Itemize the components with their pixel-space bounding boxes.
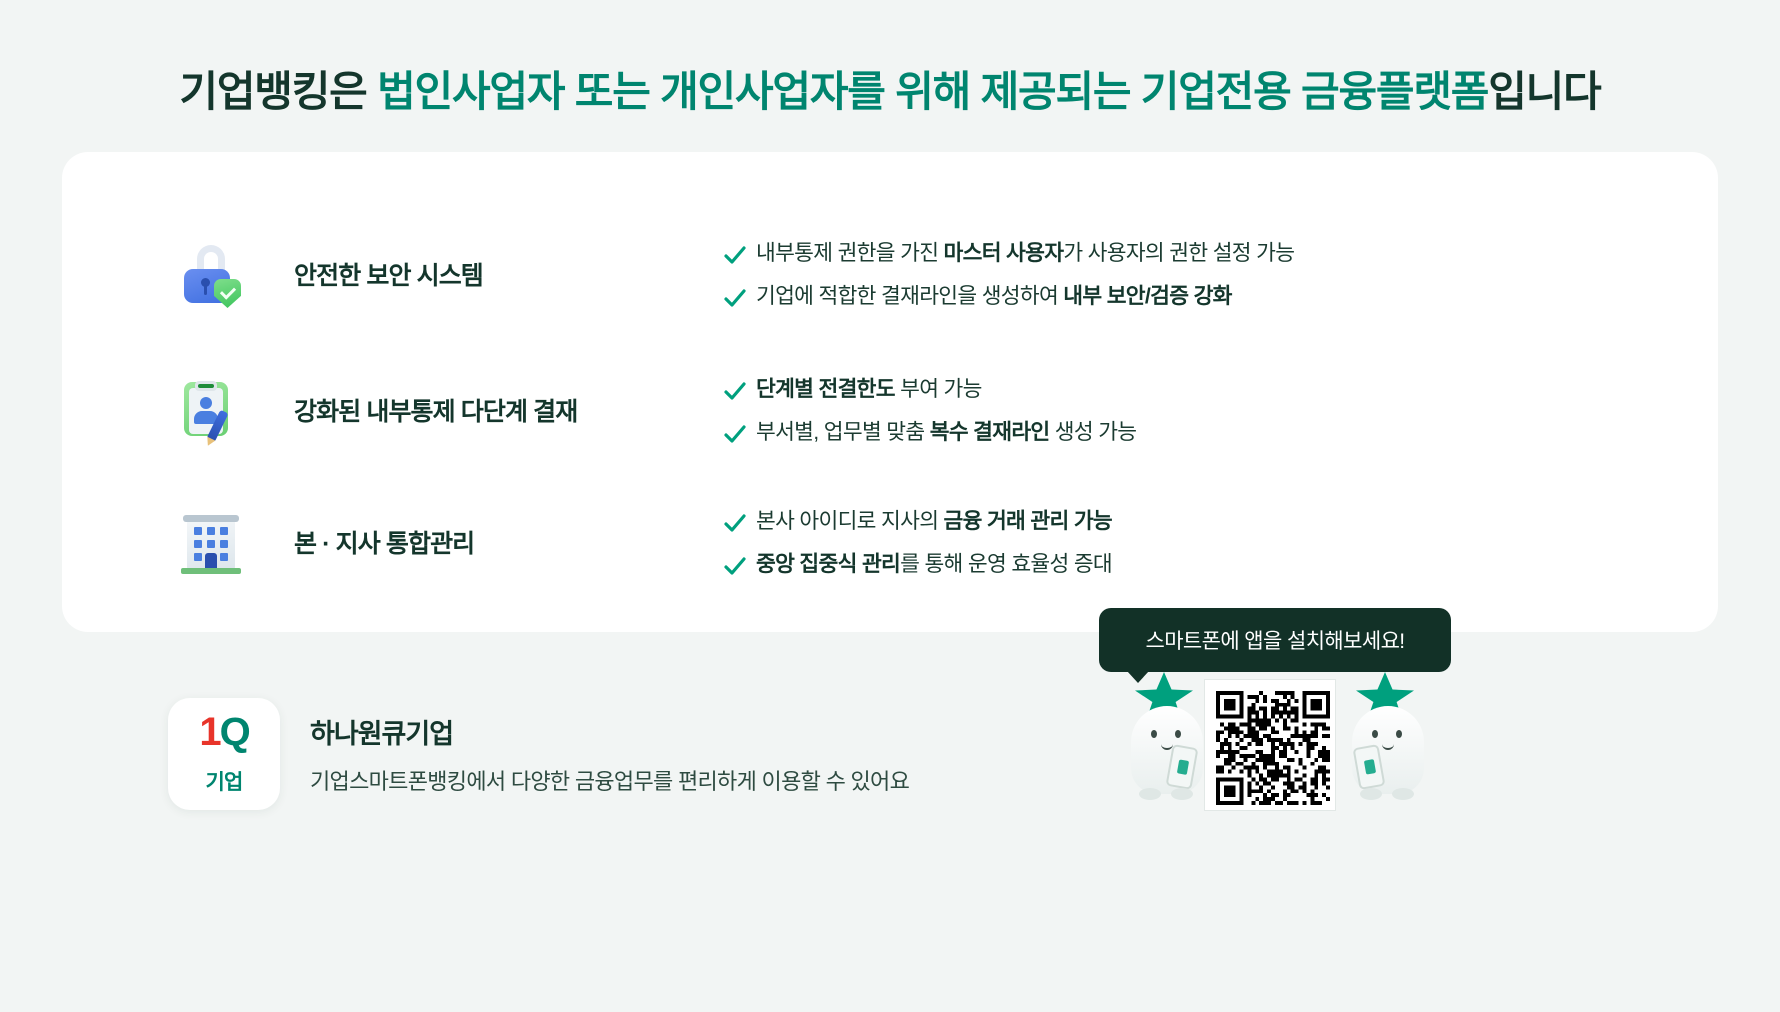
app-download-qr-code[interactable] xyxy=(1205,680,1335,810)
page-title: 기업뱅킹은 법인사업자 또는 개인사업자를 위해 제공되는 기업전용 금융플랫폼… xyxy=(0,58,1780,119)
list-item: 본사 아이디로 지사의 금융 거래 관리 가능 xyxy=(722,508,1718,535)
list-item-text: 중앙 집중식 관리를 통해 운영 효율성 증대 xyxy=(756,551,1112,578)
office-building-icon xyxy=(180,511,242,573)
list-item-text: 내부통제 권한을 가진 마스터 사용자가 사용자의 권한 설정 가능 xyxy=(756,240,1294,267)
check-icon xyxy=(722,285,756,311)
app-title: 하나원큐기업 xyxy=(310,712,453,751)
app-logo-letter: Q xyxy=(220,710,249,754)
list-item-text: 부서별, 업무별 맞춤 복수 결재라인 생성 가능 xyxy=(756,419,1136,446)
feature-heading-group: 본 · 지사 통합관리 xyxy=(62,511,722,573)
install-app-tooltip: 스마트폰에 앱을 설치해보세요! xyxy=(1099,608,1451,672)
qr-canvas xyxy=(1216,691,1330,805)
list-item: 단계별 전결한도 부여 가능 xyxy=(722,376,1718,403)
feature-label: 강화된 내부통제 다단계 결재 xyxy=(294,392,577,428)
feature-bullet-list: 단계별 전결한도 부여 가능 부서별, 업무별 맞춤 복수 결재라인 생성 가능 xyxy=(722,374,1718,446)
feature-label: 본 · 지사 통합관리 xyxy=(294,524,474,560)
feature-bullet-list: 본사 아이디로 지사의 금융 거래 관리 가능 중앙 집중식 관리를 통해 운영… xyxy=(722,506,1718,578)
page-title-lead: 기업뱅킹은 xyxy=(179,68,366,115)
feature-label: 안전한 보안 시스템 xyxy=(294,256,483,292)
unlocked-padlock-shield-icon xyxy=(180,243,242,305)
feature-card: 안전한 보안 시스템 내부통제 권한을 가진 마스터 사용자가 사용자의 권한 … xyxy=(62,152,1718,632)
list-item-text: 기업에 적합한 결재라인을 생성하여 내부 보안/검증 강화 xyxy=(756,283,1232,310)
app-logo-number: 1 xyxy=(199,710,219,754)
install-app-tooltip-text: 스마트폰에 앱을 설치해보세요! xyxy=(1145,625,1404,655)
list-item: 내부통제 권한을 가진 마스터 사용자가 사용자의 권한 설정 가능 xyxy=(722,240,1718,267)
feature-heading-group: 강화된 내부통제 다단계 결재 xyxy=(62,379,722,441)
check-icon xyxy=(722,510,756,536)
check-icon xyxy=(722,378,756,404)
app-logo-mark: 1Q xyxy=(168,712,280,752)
clipboard-approval-icon xyxy=(180,379,242,441)
mascot-star-character-left xyxy=(1119,672,1215,802)
check-icon xyxy=(722,421,756,447)
list-item: 기업에 적합한 결재라인을 생성하여 내부 보안/검증 강화 xyxy=(722,283,1718,310)
feature-row: 본 · 지사 통합관리 본사 아이디로 지사의 금융 거래 관리 가능 중앙 집… xyxy=(62,472,1718,612)
promo-banner: 기업뱅킹은 법인사업자 또는 개인사업자를 위해 제공되는 기업전용 금융플랫폼… xyxy=(0,0,1780,1012)
app-logo-card[interactable]: 1Q 기업 xyxy=(168,698,280,810)
page-title-tail: 입니다 xyxy=(1488,68,1600,115)
app-description: 기업스마트폰뱅킹에서 다양한 금융업무를 편리하게 이용할 수 있어요 xyxy=(310,764,909,796)
app-logo-subtitle: 기업 xyxy=(168,766,280,796)
list-item-text: 단계별 전결한도 부여 가능 xyxy=(756,376,982,403)
feature-heading-group: 안전한 보안 시스템 xyxy=(62,243,722,305)
page-title-accent: 법인사업자 또는 개인사업자를 위해 제공되는 기업전용 금융플랫폼 xyxy=(367,68,1489,115)
mascot-star-character-right xyxy=(1340,672,1436,802)
check-icon xyxy=(722,553,756,579)
list-item: 부서별, 업무별 맞춤 복수 결재라인 생성 가능 xyxy=(722,419,1718,446)
check-icon xyxy=(722,242,756,268)
feature-bullet-list: 내부통제 권한을 가진 마스터 사용자가 사용자의 권한 설정 가능 기업에 적… xyxy=(722,238,1718,310)
list-item-text: 본사 아이디로 지사의 금융 거래 관리 가능 xyxy=(756,508,1112,535)
list-item: 중앙 집중식 관리를 통해 운영 효율성 증대 xyxy=(722,551,1718,578)
feature-row: 안전한 보안 시스템 내부통제 권한을 가진 마스터 사용자가 사용자의 권한 … xyxy=(62,204,1718,344)
feature-row: 강화된 내부통제 다단계 결재 단계별 전결한도 부여 가능 부서별, 업무별 … xyxy=(62,340,1718,480)
